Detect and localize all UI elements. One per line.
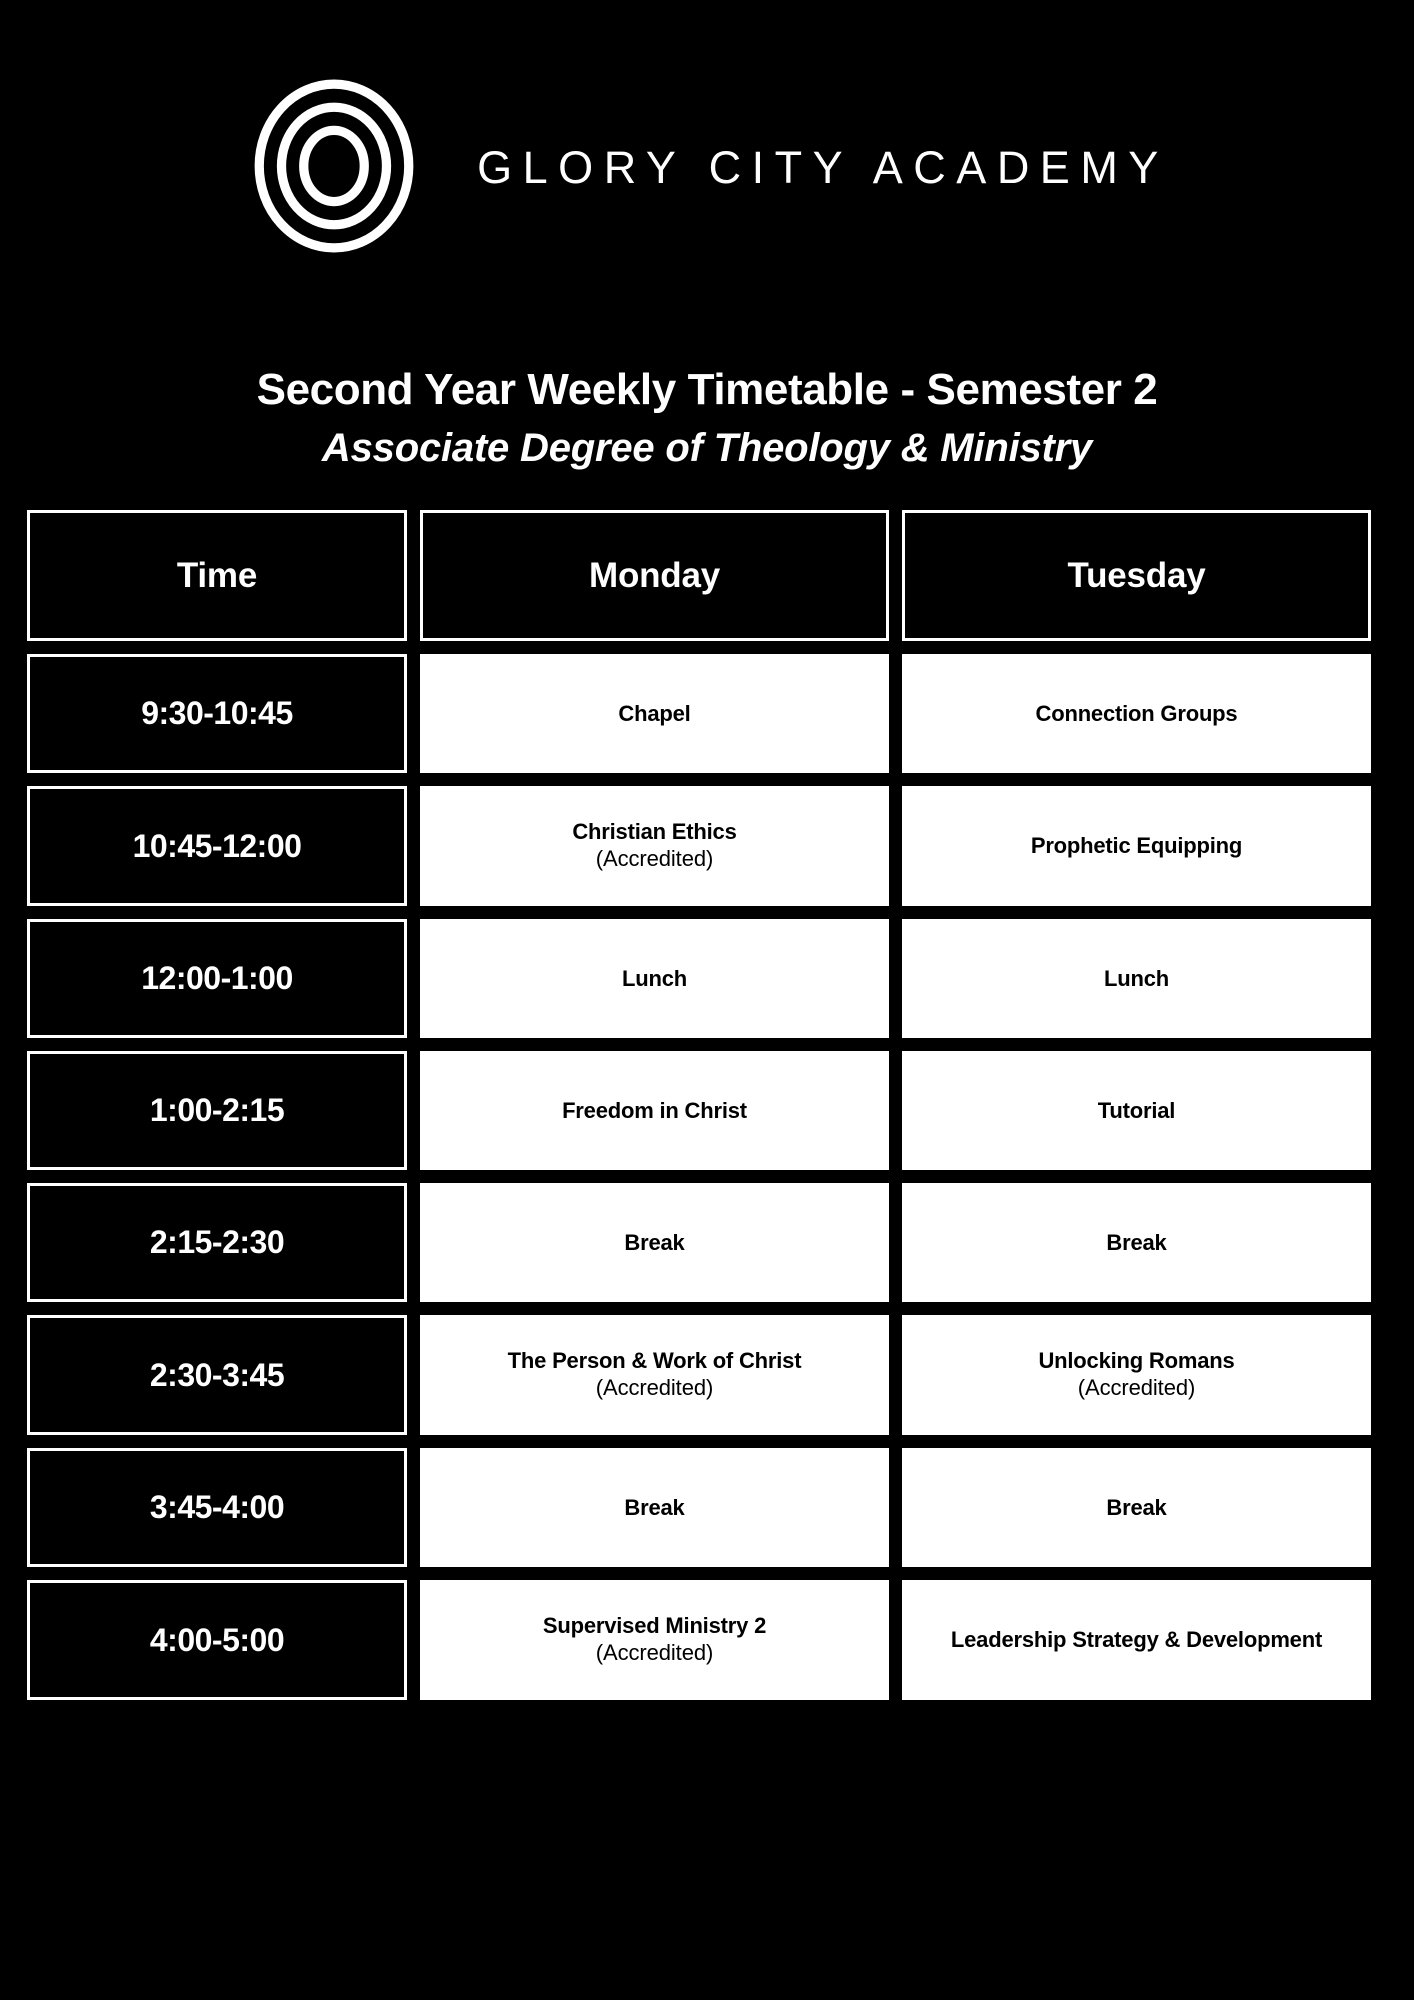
monday-class-cell: Lunch	[420, 919, 889, 1038]
table-header-row: Time Monday Tuesday	[27, 510, 1383, 641]
class-title: Leadership Strategy & Development	[902, 1626, 1371, 1654]
time-slot-cell: 9:30-10:45	[27, 654, 407, 773]
time-slot-label: 1:00-2:15	[150, 1092, 284, 1129]
time-slot-cell: 4:00-5:00	[27, 1580, 407, 1700]
time-slot-cell: 12:00-1:00	[27, 919, 407, 1038]
table-row: 12:00-1:00 Lunch Lunch	[27, 919, 1383, 1038]
timetable-poster: GLORY CITY ACADEMY Second Year Weekly Ti…	[0, 0, 1414, 2000]
table-row: 4:00-5:00 Supervised Ministry 2 (Accredi…	[27, 1580, 1383, 1700]
class-title: Break	[1106, 1229, 1166, 1257]
title-block: Second Year Weekly Timetable - Semester …	[0, 364, 1414, 471]
time-slot-label: 12:00-1:00	[141, 960, 293, 997]
table-row: 2:30-3:45 The Person & Work of Christ (A…	[27, 1315, 1383, 1435]
class-accreditation-note: (Accredited)	[1078, 1374, 1195, 1403]
class-title: Lunch	[622, 965, 687, 993]
column-header-monday: Monday	[420, 510, 889, 641]
class-accreditation-note: (Accredited)	[596, 1639, 713, 1668]
brand-header: GLORY CITY ACADEMY	[0, 78, 1414, 253]
column-header-tuesday-label: Tuesday	[1067, 556, 1205, 596]
concentric-rings-logo-icon	[245, 77, 423, 255]
table-row: 1:00-2:15 Freedom in Christ Tutorial	[27, 1051, 1383, 1170]
tuesday-class-cell: Connection Groups	[902, 654, 1371, 773]
monday-class-cell: Christian Ethics (Accredited)	[420, 786, 889, 906]
class-title: Christian Ethics	[572, 818, 736, 846]
table-row: 3:45-4:00 Break Break	[27, 1448, 1383, 1567]
column-header-time-label: Time	[177, 556, 257, 596]
time-slot-cell: 3:45-4:00	[27, 1448, 407, 1567]
monday-class-cell: Chapel	[420, 654, 889, 773]
time-slot-label: 4:00-5:00	[150, 1622, 284, 1659]
timetable-grid: Time Monday Tuesday 9:30-10:45 Chapel Co…	[27, 510, 1383, 1700]
table-row: 10:45-12:00 Christian Ethics (Accredited…	[27, 786, 1383, 906]
tuesday-class-cell: Break	[902, 1183, 1371, 1302]
time-slot-label: 2:15-2:30	[150, 1224, 284, 1261]
tuesday-class-cell: Tutorial	[902, 1051, 1371, 1170]
tuesday-class-cell: Leadership Strategy & Development	[902, 1580, 1371, 1700]
time-slot-cell: 10:45-12:00	[27, 786, 407, 906]
class-title: Tutorial	[1098, 1097, 1175, 1125]
column-header-tuesday: Tuesday	[902, 510, 1371, 641]
time-slot-cell: 2:15-2:30	[27, 1183, 407, 1302]
class-title: The Person & Work of Christ	[508, 1347, 802, 1375]
class-title: Chapel	[618, 700, 690, 728]
monday-class-cell: The Person & Work of Christ (Accredited)	[420, 1315, 889, 1435]
monday-class-cell: Freedom in Christ	[420, 1051, 889, 1170]
tuesday-class-cell: Break	[902, 1448, 1371, 1567]
class-title: Break	[624, 1229, 684, 1257]
monday-class-cell: Break	[420, 1183, 889, 1302]
column-header-monday-label: Monday	[589, 556, 720, 596]
table-row: 2:15-2:30 Break Break	[27, 1183, 1383, 1302]
class-title: Break	[624, 1494, 684, 1522]
time-slot-label: 3:45-4:00	[150, 1489, 284, 1526]
class-title: Supervised Ministry 2	[543, 1612, 766, 1640]
class-accreditation-note: (Accredited)	[596, 845, 713, 874]
class-title: Break	[1106, 1494, 1166, 1522]
class-title: Connection Groups	[1036, 700, 1238, 728]
time-slot-cell: 1:00-2:15	[27, 1051, 407, 1170]
monday-class-cell: Break	[420, 1448, 889, 1567]
column-header-time: Time	[27, 510, 407, 641]
time-slot-label: 10:45-12:00	[133, 828, 302, 865]
monday-class-cell: Supervised Ministry 2 (Accredited)	[420, 1580, 889, 1700]
class-accreditation-note: (Accredited)	[596, 1374, 713, 1403]
time-slot-cell: 2:30-3:45	[27, 1315, 407, 1435]
time-slot-label: 9:30-10:45	[141, 695, 293, 732]
time-slot-label: 2:30-3:45	[150, 1357, 284, 1394]
tuesday-class-cell: Unlocking Romans (Accredited)	[902, 1315, 1371, 1435]
class-title: Prophetic Equipping	[1031, 832, 1242, 860]
class-title: Unlocking Romans	[1038, 1347, 1234, 1375]
tuesday-class-cell: Prophetic Equipping	[902, 786, 1371, 906]
page-title: Second Year Weekly Timetable - Semester …	[0, 364, 1414, 415]
table-row: 9:30-10:45 Chapel Connection Groups	[27, 654, 1383, 773]
page-subtitle: Associate Degree of Theology & Ministry	[0, 425, 1414, 471]
academy-wordmark: GLORY CITY ACADEMY	[477, 141, 1169, 190]
class-title: Freedom in Christ	[562, 1097, 747, 1125]
class-title: Lunch	[1104, 965, 1169, 993]
tuesday-class-cell: Lunch	[902, 919, 1371, 1038]
